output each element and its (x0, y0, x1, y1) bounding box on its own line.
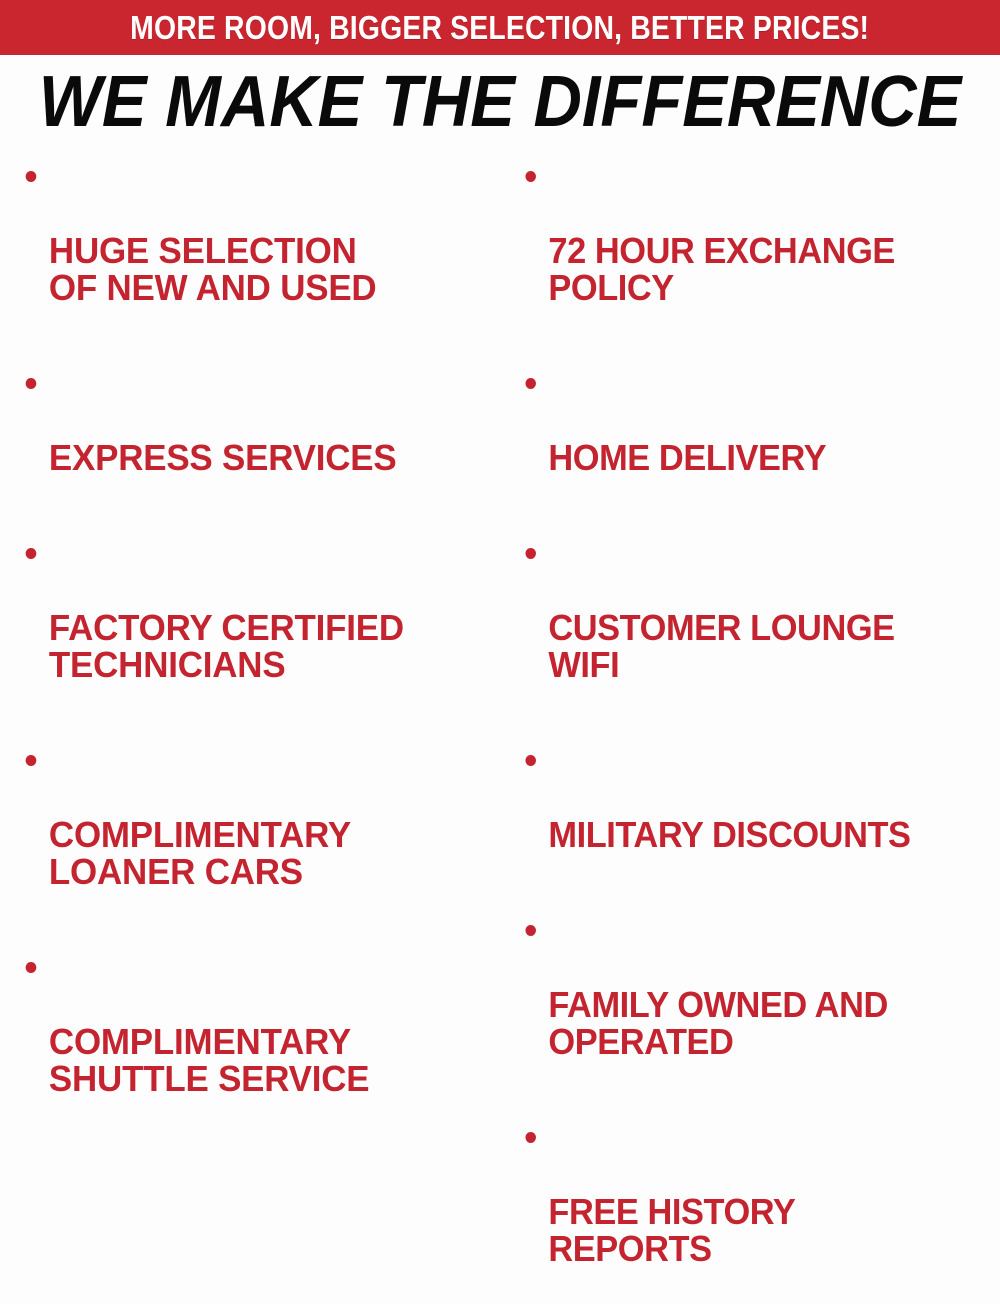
benefits-columns: HUGE SELECTION OF NEW AND USED EXPRESS S… (0, 158, 1000, 694)
list-item-label: 72 HOUR EXCHANGE POLICY (548, 232, 978, 306)
bullet-dot-icon (525, 548, 536, 559)
bullet-dot-icon (26, 378, 37, 389)
headline: WE MAKE THE DIFFERENCE (0, 66, 1000, 138)
list-item: 72 HOUR EXCHANGE POLICY (514, 158, 978, 343)
list-item: HOME DELIVERY (514, 365, 978, 513)
list-item-label: CUSTOMER LOUNGE WIFI (548, 609, 978, 683)
benefits-column-left: HUGE SELECTION OF NEW AND USED EXPRESS S… (14, 158, 500, 694)
list-item: EXPRESS SERVICES (14, 365, 485, 513)
top-banner-text: MORE ROOM, BIGGER SELECTION, BETTER PRIC… (130, 11, 869, 45)
list-item-label: FREE HISTORY REPORTS (548, 1193, 978, 1267)
top-banner: MORE ROOM, BIGGER SELECTION, BETTER PRIC… (0, 0, 1000, 55)
list-item-label: HOME DELIVERY (548, 439, 978, 476)
promo-poster: MORE ROOM, BIGGER SELECTION, BETTER PRIC… (0, 0, 1000, 694)
bullet-dot-icon (525, 925, 536, 936)
list-item-label: FAMILY OWNED AND OPERATED (548, 986, 978, 1060)
list-item: MILITARY DISCOUNTS (514, 742, 978, 890)
list-item: COMPLIMENTARY SHUTTLE SERVICE (14, 949, 485, 1134)
benefits-column-right: 72 HOUR EXCHANGE POLICY HOME DELIVERY CU… (514, 158, 1000, 694)
list-item-label: COMPLIMENTARY SHUTTLE SERVICE (49, 1023, 486, 1097)
list-item: HUGE SELECTION OF NEW AND USED (14, 158, 485, 343)
bullet-dot-icon (525, 755, 536, 766)
bullet-dot-icon (26, 171, 37, 182)
list-item: COMPLIMENTARY LOANER CARS (14, 742, 485, 927)
bullet-dot-icon (525, 378, 536, 389)
list-item: FACTORY CERTIFIED TECHNICIANS (14, 535, 485, 720)
list-item-label: COMPLIMENTARY LOANER CARS (49, 816, 486, 890)
list-item-label: MILITARY DISCOUNTS (548, 816, 978, 853)
headline-text: WE MAKE THE DIFFERENCE (39, 66, 962, 138)
list-item-label: FACTORY CERTIFIED TECHNICIANS (49, 609, 486, 683)
list-item: FAMILY OWNED AND OPERATED (514, 912, 978, 1097)
bullet-dot-icon (525, 171, 536, 182)
list-item: FREE HISTORY REPORTS (514, 1119, 978, 1304)
bullet-dot-icon (525, 1132, 536, 1143)
list-item-label: HUGE SELECTION OF NEW AND USED (49, 232, 486, 306)
list-item-label: EXPRESS SERVICES (49, 439, 486, 476)
list-item: CUSTOMER LOUNGE WIFI (514, 535, 978, 720)
bullet-dot-icon (26, 962, 37, 973)
bullet-dot-icon (26, 755, 37, 766)
bullet-dot-icon (26, 548, 37, 559)
